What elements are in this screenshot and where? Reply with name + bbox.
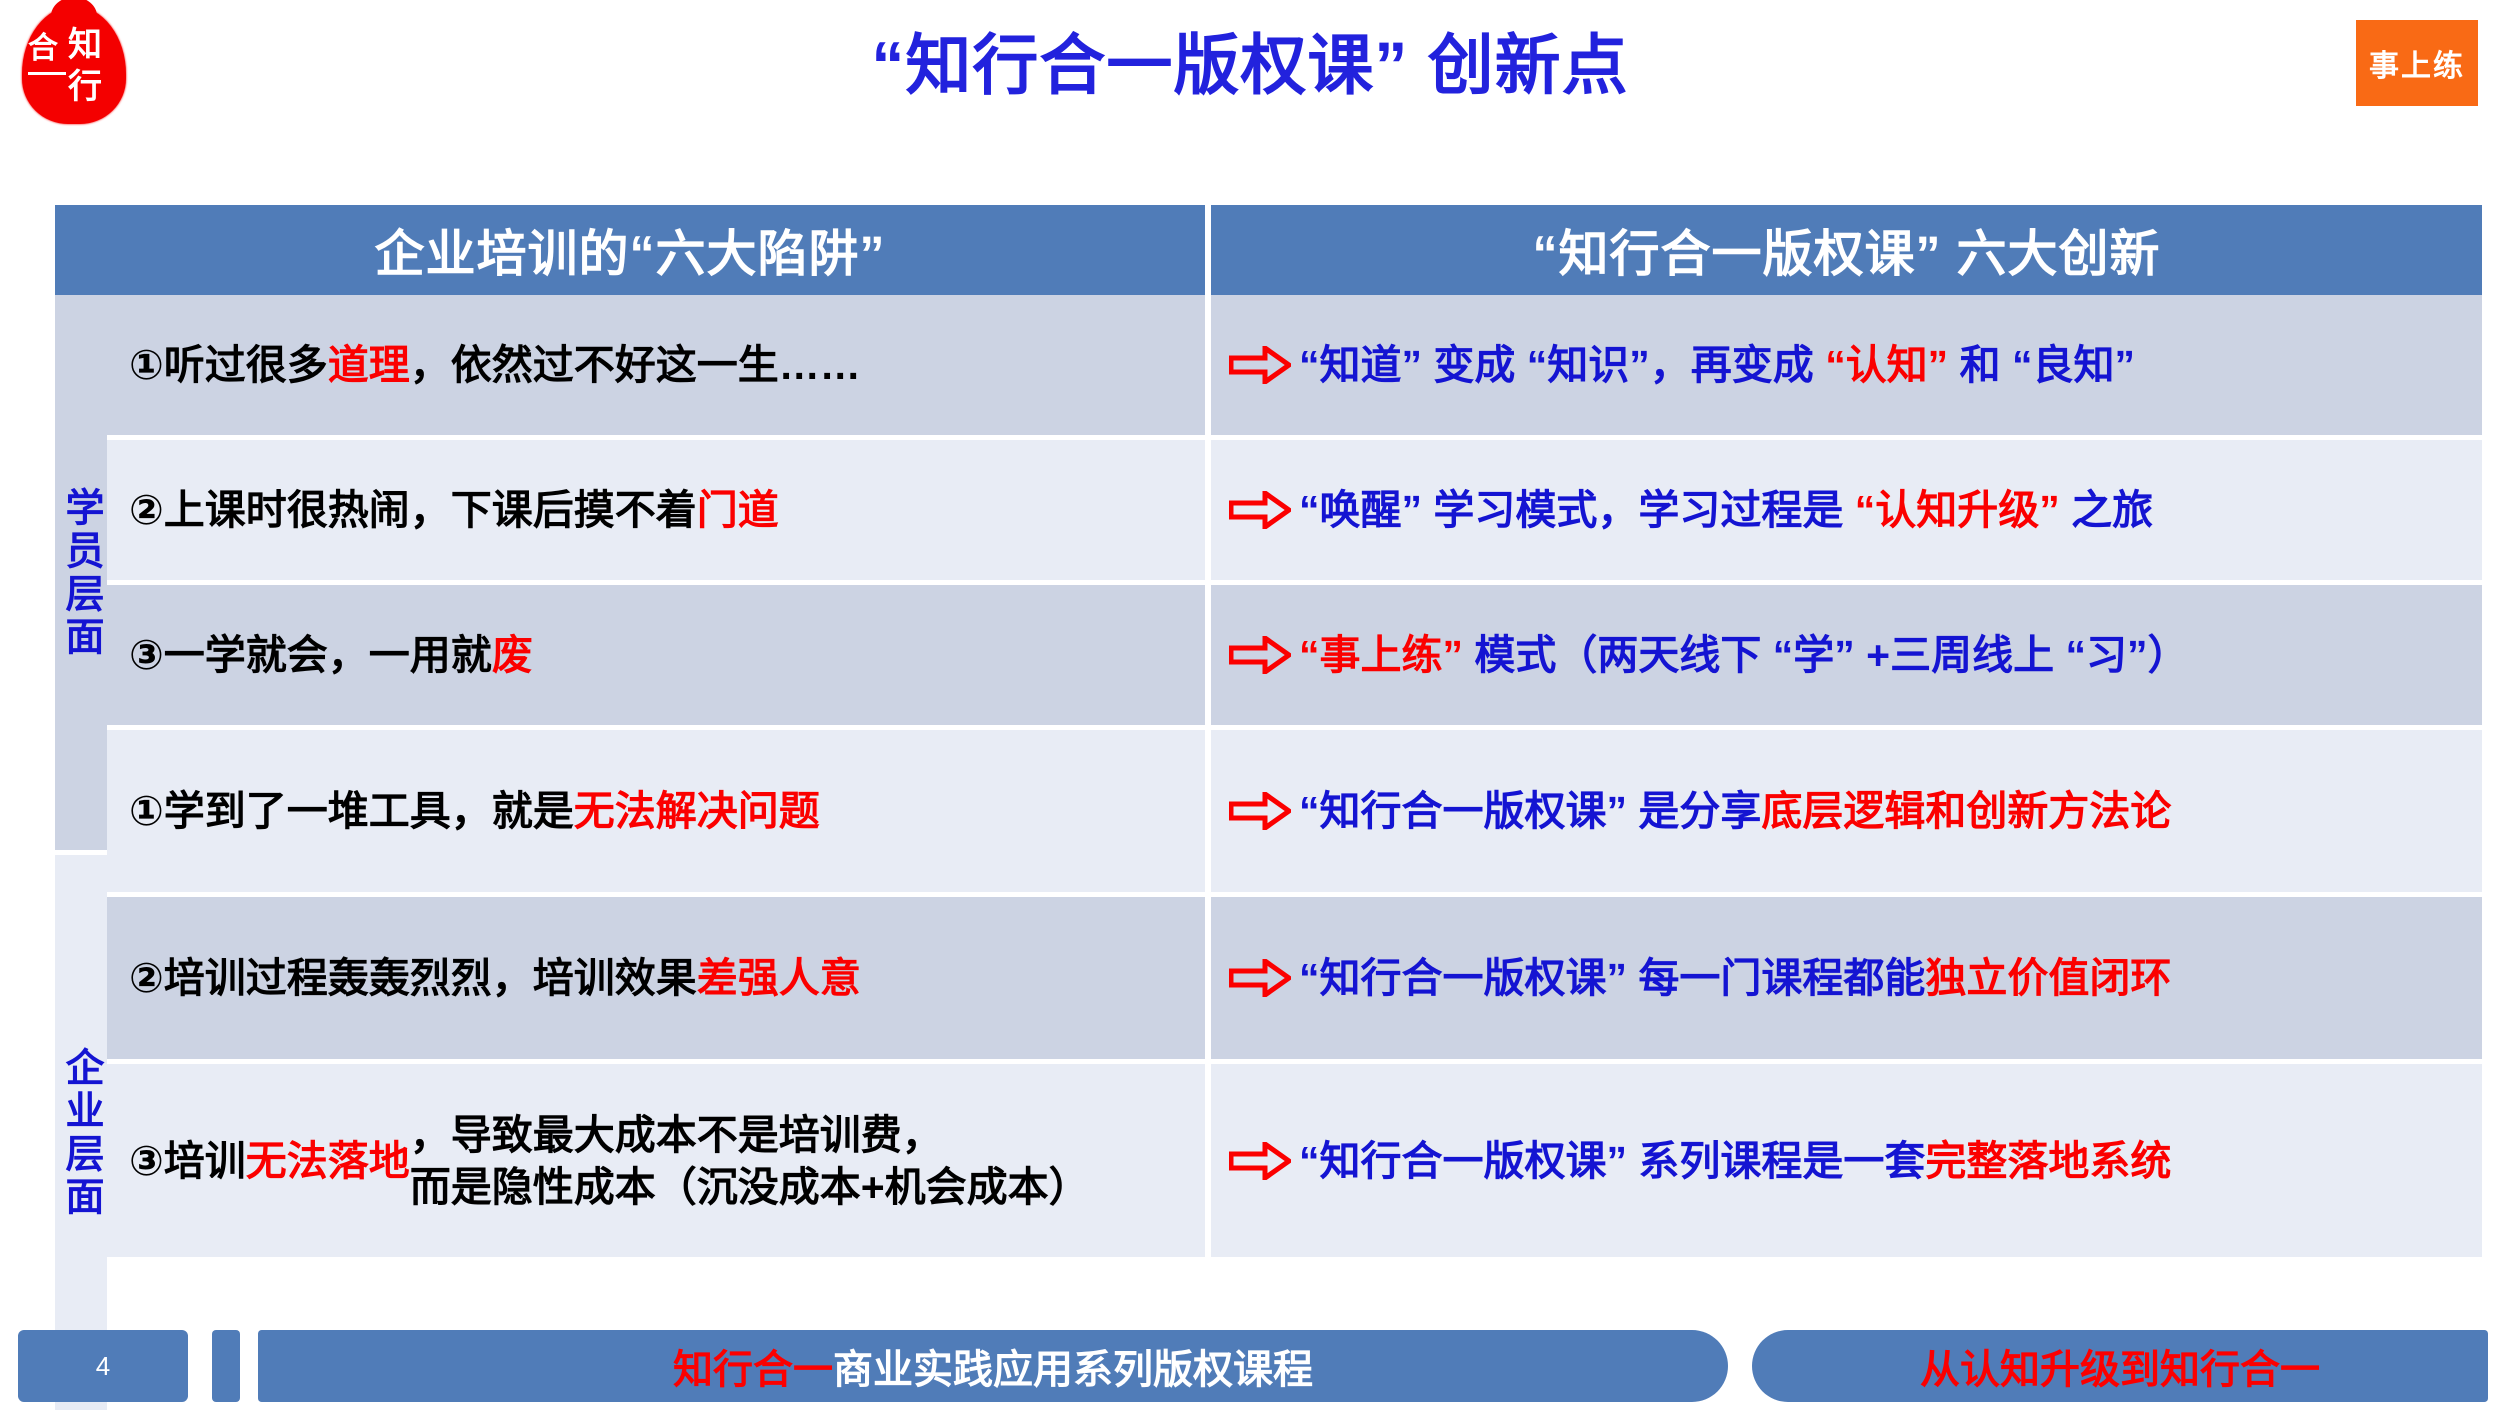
row-right-text: “知行合一版权课” 是分享底层逻辑和创新方法论 — [1299, 785, 2482, 837]
text-span: 模式（两天线下 “学” +三周线上 “习”） — [1463, 632, 2189, 678]
row-left-cell: ③一学就会，一用就废 — [107, 585, 1205, 725]
footer-bar: 4 知行合一商业实践应用系列版权课程 从认知升级到知行合一 — [0, 1330, 2500, 1406]
row-right-cell: “事上练” 模式（两天线下 “学” +三周线上 “习”） — [1211, 585, 2482, 725]
page-title: “知行合一版权课” 创新点 — [0, 12, 2500, 108]
text-span: ③一学就会，一用就 — [129, 629, 492, 681]
right-arrow-icon — [1229, 792, 1291, 830]
text-span: 道理 — [328, 339, 410, 391]
row-left-cell: ①学到了一堆工具，就是无法解决问题 — [107, 730, 1205, 892]
footer-brand-band: 知行合一商业实践应用系列版权课程 — [258, 1330, 1728, 1402]
text-span: 和 “良知” — [1948, 342, 2135, 388]
row-right-cell: “知行合一版权课” 是分享底层逻辑和创新方法论 — [1211, 730, 2482, 892]
page-number: 4 — [18, 1330, 188, 1402]
table-row: ①听过很多道理，依然过不好这一生……“知道” 变成 “知识”，再变成 “认知” … — [107, 295, 2482, 435]
row-right-cell: “唤醒” 学习模式，学习过程是 “认知升级” 之旅 — [1211, 440, 2482, 580]
right-arrow-icon — [1221, 1064, 1299, 1257]
text-span: 之旅 — [2060, 487, 2153, 533]
text-span: “认知升级” — [1855, 487, 2060, 533]
text-span: ②培训过程轰轰烈烈，培训效果 — [129, 952, 697, 1004]
text-span: “唤醒” 学习模式，学习过程是 — [1299, 487, 1855, 533]
row-right-text: “事上练” 模式（两天线下 “学” +三周线上 “习”） — [1299, 629, 2482, 681]
row-right-cell: “知道” 变成 “知识”，再变成 “认知” 和 “良知” — [1211, 295, 2482, 435]
text-span: 废 — [492, 629, 533, 681]
right-arrow-icon — [1221, 897, 1299, 1059]
row-right-text: “知道” 变成 “知识”，再变成 “认知” 和 “良知” — [1299, 339, 2482, 391]
text-span: “知行合一版权课” 每一门课程都能 — [1299, 955, 1925, 1001]
side-label-student: 学员层面 — [55, 295, 107, 850]
footer-brand-name: 知行合一 — [673, 1337, 833, 1395]
table-row: ③一学就会，一用就废“事上练” 模式（两天线下 “学” +三周线上 “习”） — [107, 585, 2482, 725]
right-arrow-icon — [1221, 585, 1299, 725]
table-row: ③培训无法落地，导致最大成本不是培训费，而是隐性成本（沉没成本+机会成本）“知行… — [107, 1064, 2482, 1257]
text-span: ①听过很多 — [129, 339, 328, 391]
table-body: 学员层面 企业层面 ①听过很多道理，依然过不好这一生……“知道” 变成 “知识”… — [55, 295, 2482, 1410]
text-span: 门道 — [697, 484, 779, 536]
row-right-text: “知行合一版权课” 系列课程是一套完整落地系统 — [1299, 1135, 2482, 1187]
table-row: ②上课时很热闹，下课后摸不着门道“唤醒” 学习模式，学习过程是 “认知升级” 之… — [107, 440, 2482, 580]
text-span: “知行合一版权课” 是分享 — [1299, 788, 1761, 834]
text-span: ②上课时很热闹，下课后摸不着 — [129, 484, 697, 536]
right-arrow-icon — [1229, 636, 1291, 674]
text-span: 独立价值闭环 — [1925, 955, 2171, 1001]
text-span: “事上练” — [1299, 632, 1463, 678]
text-span: “知行合一版权课” 系列课程是一套 — [1299, 1138, 1925, 1184]
right-arrow-icon — [1229, 959, 1291, 997]
text-span: ，依然过不好这一生…… — [410, 339, 861, 391]
right-arrow-icon — [1229, 1142, 1291, 1180]
row-left-cell: ②培训过程轰轰烈烈，培训效果差强人意 — [107, 897, 1205, 1059]
footer-brand-rest: 商业实践应用系列版权课程 — [833, 1337, 1313, 1395]
text-span: ，导致最大成本不是培训费，而是隐性成本（沉没成本+机会成本） — [410, 1109, 1090, 1213]
footer-tagline-band: 从认知升级到知行合一 — [1752, 1330, 2488, 1402]
text-span: 无法解决问题 — [574, 785, 820, 837]
text-span: 无法落地 — [246, 1135, 410, 1187]
row-right-text: “唤醒” 学习模式，学习过程是 “认知升级” 之旅 — [1299, 484, 2482, 536]
text-span: ①学到了一堆工具，就是 — [129, 785, 574, 837]
right-arrow-icon — [1221, 440, 1299, 580]
right-arrow-icon — [1229, 491, 1291, 529]
table-header-right: “知行合一版权课” 六大创新 — [1211, 205, 2482, 295]
text-span: 完整落地系统 — [1925, 1138, 2171, 1184]
row-right-cell: “知行合一版权课” 每一门课程都能独立价值闭环 — [1211, 897, 2482, 1059]
text-span: “认知” — [1825, 342, 1948, 388]
text-span: 底层逻辑和创新方法论 — [1761, 788, 2171, 834]
row-left-cell: ②上课时很热闹，下课后摸不着门道 — [107, 440, 1205, 580]
text-span: “知道” 变成 “知识”，再变成 — [1299, 342, 1825, 388]
row-right-cell: “知行合一版权课” 系列课程是一套完整落地系统 — [1211, 1064, 2482, 1257]
text-span: 差强人意 — [697, 952, 861, 1004]
row-left-cell: ③培训无法落地，导致最大成本不是培训费，而是隐性成本（沉没成本+机会成本） — [107, 1064, 1205, 1257]
side-label-enterprise: 企业层面 — [55, 855, 107, 1410]
comparison-table: 企业培训的“六大陷阱” “知行合一版权课” 六大创新 学员层面 企业层面 ①听过… — [55, 205, 2482, 1410]
side-label-column: 学员层面 企业层面 — [55, 295, 107, 1410]
row-left-cell: ①听过很多道理，依然过不好这一生…… — [107, 295, 1205, 435]
right-arrow-icon — [1229, 346, 1291, 384]
row-right-text: “知行合一版权课” 每一门课程都能独立价值闭环 — [1299, 952, 2482, 1004]
text-span: ③培训 — [129, 1135, 246, 1187]
shishanglian-badge: 事上练 — [2356, 20, 2478, 106]
table-row: ②培训过程轰轰烈烈，培训效果差强人意“知行合一版权课” 每一门课程都能独立价值闭… — [107, 897, 2482, 1059]
table-rows: ①听过很多道理，依然过不好这一生……“知道” 变成 “知识”，再变成 “认知” … — [107, 295, 2482, 1410]
footer-tick-mark — [212, 1330, 240, 1402]
table-header-left: 企业培训的“六大陷阱” — [55, 205, 1205, 295]
table-row: ①学到了一堆工具，就是无法解决问题“知行合一版权课” 是分享底层逻辑和创新方法论 — [107, 730, 2482, 892]
right-arrow-icon — [1221, 730, 1299, 892]
table-header-row: 企业培训的“六大陷阱” “知行合一版权课” 六大创新 — [55, 205, 2482, 295]
right-arrow-icon — [1221, 295, 1299, 435]
